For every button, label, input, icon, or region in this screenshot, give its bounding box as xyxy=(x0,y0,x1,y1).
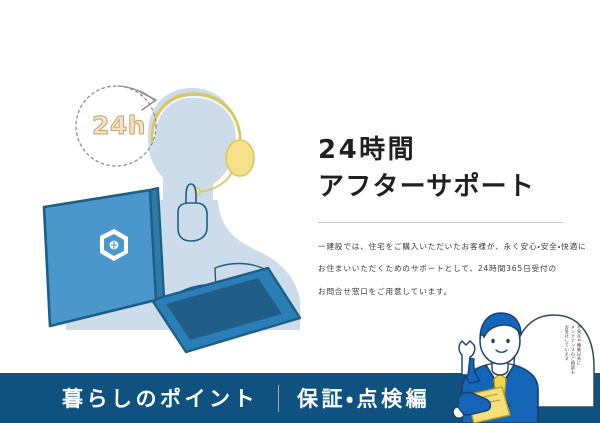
body-copy: 一建設では、住宅をご購入いただいたお客様が、永く安心・安全・快適に お住まいいた… xyxy=(318,236,570,303)
body-line-3: お問合せ窓口をご用意しています。 xyxy=(318,281,570,303)
operator-illustration xyxy=(0,0,310,375)
page-title-line1: 24時間 xyxy=(318,132,576,169)
banner-content: 暮らしのポイント 保証・点検編 xyxy=(62,383,430,413)
title-divider xyxy=(318,222,563,223)
twenty-four-hour-badge: 24h xyxy=(62,78,174,170)
maintenance-staff-illustration xyxy=(440,303,600,423)
page-title-line2: アフターサポート xyxy=(318,169,576,206)
badge-label: 24h xyxy=(62,78,174,170)
text-column: 24時間 アフターサポート 一建設では、住宅をご購入いただいたお客様が、永く安心… xyxy=(318,132,576,303)
wrench-icon xyxy=(459,341,480,383)
body-line-2: お住まいいただくためのサポートとして、24時間365日受付の xyxy=(318,258,570,280)
banner-subtitle: 保証・点検編 xyxy=(297,383,430,413)
banner-title: 暮らしのポイント xyxy=(62,383,258,413)
poster-root: 24h 24時間 アフターサポート 一建設では、住宅をご購入いただいたお客様が、… xyxy=(0,0,600,423)
banner-separator xyxy=(278,385,279,412)
body-line-1: 一建設では、住宅をご購入いただいたお客様が、永く安心・安全・快適に xyxy=(318,236,570,258)
